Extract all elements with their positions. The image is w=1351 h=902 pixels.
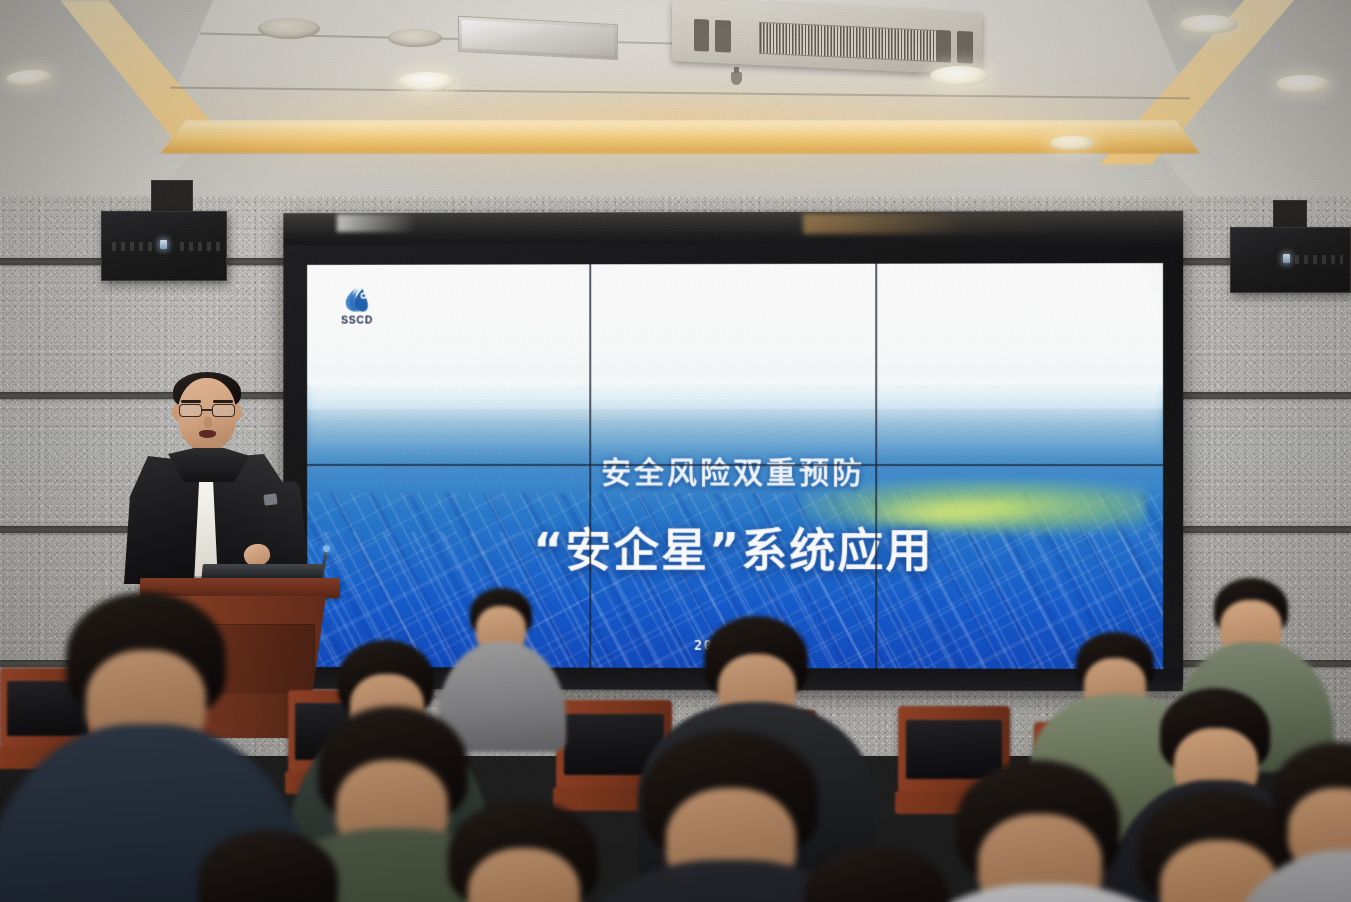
presenter-mouth xyxy=(199,430,216,438)
ac-vent-slot xyxy=(694,19,710,52)
presenter-eyebrow xyxy=(213,400,233,403)
presenter-nose xyxy=(204,417,212,428)
speaker-grille xyxy=(112,242,154,251)
slide-horizon-haze xyxy=(307,377,1163,458)
speaker-indicator-led xyxy=(1283,254,1290,263)
sprinkler-head-icon xyxy=(731,72,742,85)
slide-logo-text: SSCD xyxy=(341,315,373,327)
presentation-slide: SSCD 安全风险双重预防 “安企星”系统应用 2025-04- xyxy=(307,263,1163,669)
recessed-downlight xyxy=(1276,75,1330,93)
slide-title-line-1: 安全风险双重预防 xyxy=(307,448,1163,492)
ceiling-air-outlet xyxy=(258,18,320,39)
recessed-downlight xyxy=(398,72,456,91)
video-wall-display-area[interactable]: SSCD 安全风险双重预防 “安企星”系统应用 2025-04- xyxy=(307,263,1163,669)
glasses-lens xyxy=(212,404,235,417)
ac-vent-slot xyxy=(715,20,731,53)
speaker-indicator-led xyxy=(160,240,167,249)
speaker-grille xyxy=(1295,255,1343,264)
recessed-downlight xyxy=(930,66,990,86)
conference-room-scene: SSCD 安全风险双重预防 “安企星”系统应用 2025-04- xyxy=(0,0,1351,902)
slide-title-line-2: “安企星”系统应用 xyxy=(307,514,1163,581)
video-wall-top-bezel xyxy=(283,211,1183,245)
ac-vent-slot xyxy=(957,31,973,64)
recessed-downlight xyxy=(1050,136,1094,150)
glasses-icon xyxy=(179,404,235,417)
glasses-bridge xyxy=(202,409,212,411)
chair-cushion xyxy=(906,720,1002,779)
ac-grille xyxy=(759,21,939,61)
recessed-downlight xyxy=(1180,15,1238,34)
glasses-lens xyxy=(179,404,202,417)
cove-light-strip-front xyxy=(160,120,1200,154)
sscd-droplet-logo-icon xyxy=(344,286,370,314)
speaker-cabinet xyxy=(1230,227,1351,293)
ac-vent-slot xyxy=(936,30,952,63)
slide-logo: SSCD xyxy=(341,286,373,327)
speaker-grille xyxy=(180,242,220,251)
presenter-eyebrow xyxy=(181,400,201,403)
ceiling-air-outlet xyxy=(388,29,442,47)
speaker-cabinet xyxy=(101,211,227,281)
jacket-logo-patch xyxy=(263,493,277,506)
ceiling xyxy=(0,0,1351,200)
video-wall-seam-horizontal xyxy=(307,464,1163,466)
